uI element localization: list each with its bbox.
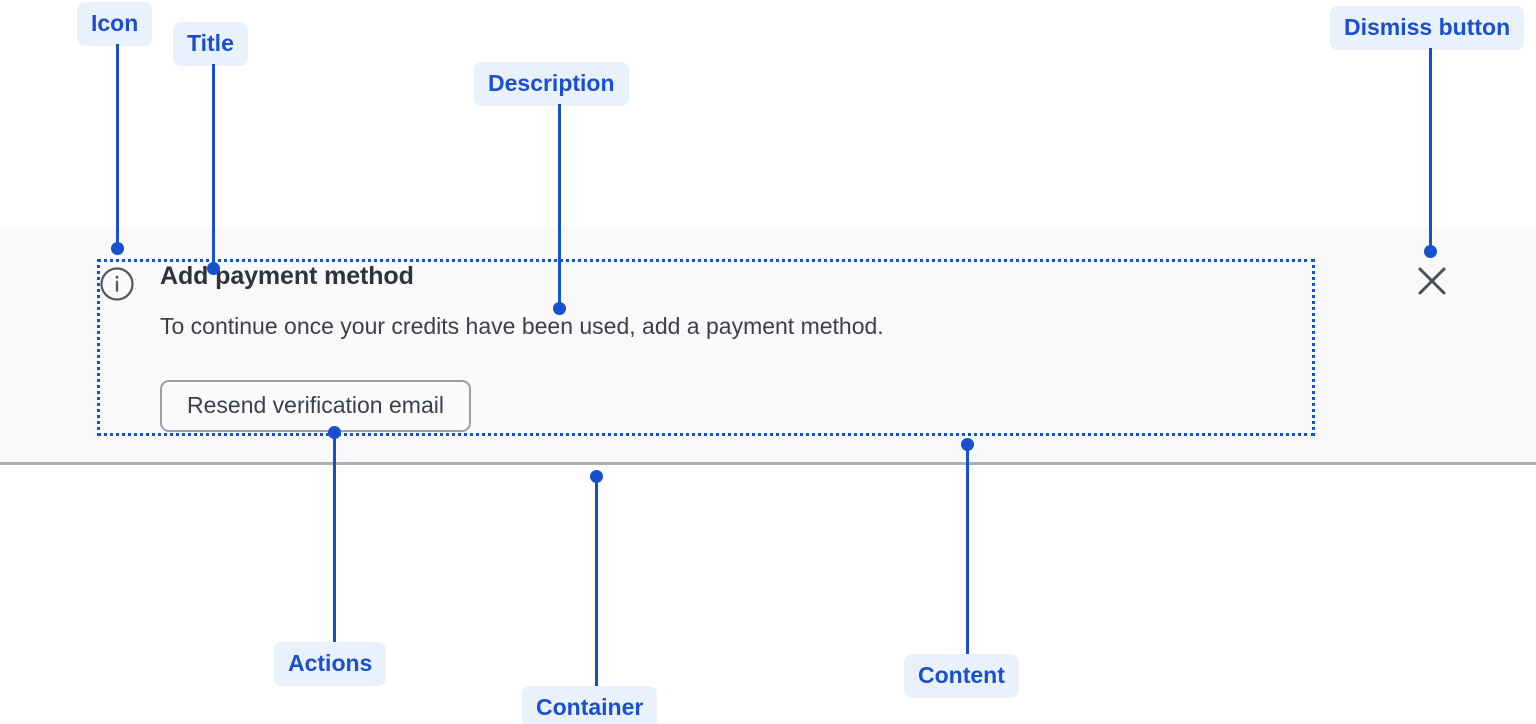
annotation-dot-actions bbox=[328, 426, 341, 439]
annotated-banner-diagram: Add payment method To continue once your… bbox=[0, 0, 1536, 724]
annotation-leader-icon bbox=[116, 44, 119, 248]
annotation-label-container: Container bbox=[522, 686, 657, 724]
dismiss-button[interactable] bbox=[1411, 260, 1453, 302]
banner-actions: Resend verification email bbox=[160, 380, 471, 432]
annotation-dot-description bbox=[553, 302, 566, 315]
annotation-leader-description bbox=[558, 104, 561, 308]
annotation-dot-container bbox=[590, 470, 603, 483]
banner-description: To continue once your credits have been … bbox=[160, 293, 1310, 342]
annotation-label-title: Title bbox=[173, 22, 248, 66]
annotation-leader-content bbox=[966, 444, 969, 654]
annotation-dot-content bbox=[961, 438, 974, 451]
banner-content: Add payment method To continue once your… bbox=[97, 259, 1315, 436]
annotation-label-icon: Icon bbox=[77, 2, 152, 46]
annotation-leader-actions bbox=[333, 432, 336, 642]
banner-title: Add payment method bbox=[160, 259, 1310, 293]
annotation-leader-title bbox=[212, 64, 215, 268]
annotation-dot-title bbox=[207, 262, 220, 275]
annotation-label-actions: Actions bbox=[274, 642, 386, 686]
annotation-label-content: Content bbox=[904, 654, 1019, 698]
annotation-dot-dismiss-button bbox=[1424, 245, 1437, 258]
annotation-leader-dismiss-button bbox=[1429, 48, 1432, 252]
annotation-dot-icon bbox=[111, 242, 124, 255]
banner-container: Add payment method To continue once your… bbox=[0, 228, 1536, 465]
annotation-label-description: Description bbox=[474, 62, 629, 106]
annotation-leader-container bbox=[595, 476, 598, 686]
info-circle-icon bbox=[100, 267, 134, 301]
resend-verification-email-button[interactable]: Resend verification email bbox=[160, 380, 471, 432]
banner-text-block: Add payment method To continue once your… bbox=[160, 259, 1310, 342]
annotation-label-dismiss-button: Dismiss button bbox=[1330, 6, 1524, 50]
